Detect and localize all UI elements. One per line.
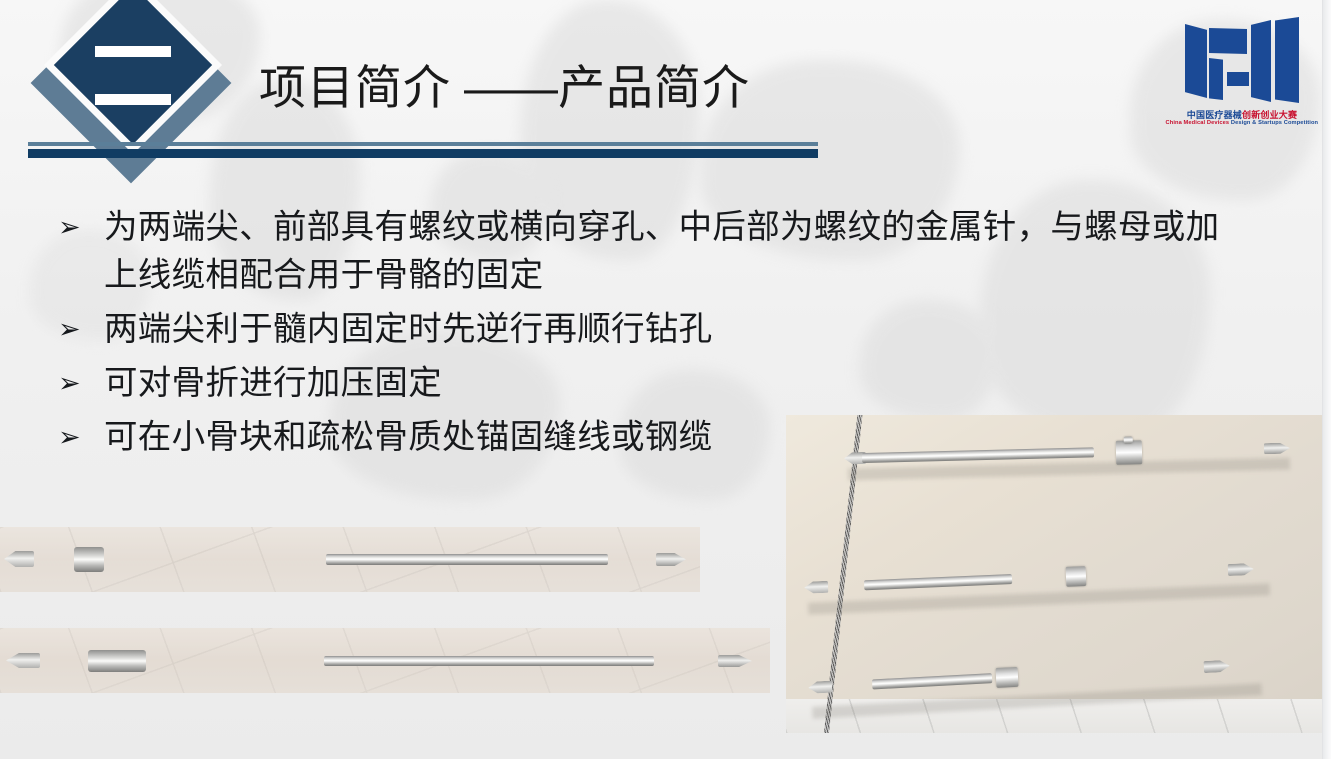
product-photo-pin-threaded: [0, 628, 770, 693]
list-item-label: 两端尖利于髓内固定时先逆行再顺行钻孔: [104, 306, 1238, 354]
arrow-bullet-icon: ➢: [58, 204, 104, 252]
title-rule-thick: [28, 149, 818, 158]
competition-logo-text-en: China Medical Devices Design & Startups …: [1166, 120, 1319, 127]
arrow-bullet-icon: ➢: [58, 414, 104, 462]
competition-logo-text-cn: 中国医疗器械创新创业大赛: [1187, 110, 1297, 120]
slide-right-edge: [1322, 0, 1331, 759]
diamond-emblem-icon: [38, 4, 228, 162]
slide-canvas: 项目简介 ——产品简介 中国医疗器械创新创业大赛 China Medical D…: [0, 0, 1331, 759]
open-door-icon: [1183, 14, 1301, 106]
page-title-separator: ——: [451, 61, 558, 114]
page-title-main: 项目简介: [259, 61, 451, 114]
title-rule-thin: [28, 142, 818, 146]
list-item-label: 可对骨折进行加压固定: [104, 360, 1238, 408]
page-title: 项目简介 ——产品简介: [259, 62, 750, 115]
list-item-label: 为两端尖、前部具有螺纹或横向穿孔、中后部为螺纹的金属针，与螺母或加上线缆相配合用…: [104, 204, 1238, 300]
arrow-bullet-icon: ➢: [58, 306, 104, 354]
product-photo-pins-with-cable: [786, 415, 1322, 733]
product-photo-pin-with-nut: [0, 527, 700, 592]
list-item: ➢ 两端尖利于髓内固定时先逆行再顺行钻孔: [58, 306, 1238, 354]
list-item: ➢ 为两端尖、前部具有螺纹或横向穿孔、中后部为螺纹的金属针，与螺母或加上线缆相配…: [58, 204, 1238, 300]
arrow-bullet-icon: ➢: [58, 360, 104, 408]
page-title-sub: 产品简介: [558, 61, 750, 114]
slide-header: 项目简介 ——产品简介 中国医疗器械创新创业大赛 China Medical D…: [0, 0, 1331, 175]
list-item: ➢ 可对骨折进行加压固定: [58, 360, 1238, 408]
competition-logo: 中国医疗器械创新创业大赛 China Medical Devices Desig…: [1171, 14, 1313, 154]
